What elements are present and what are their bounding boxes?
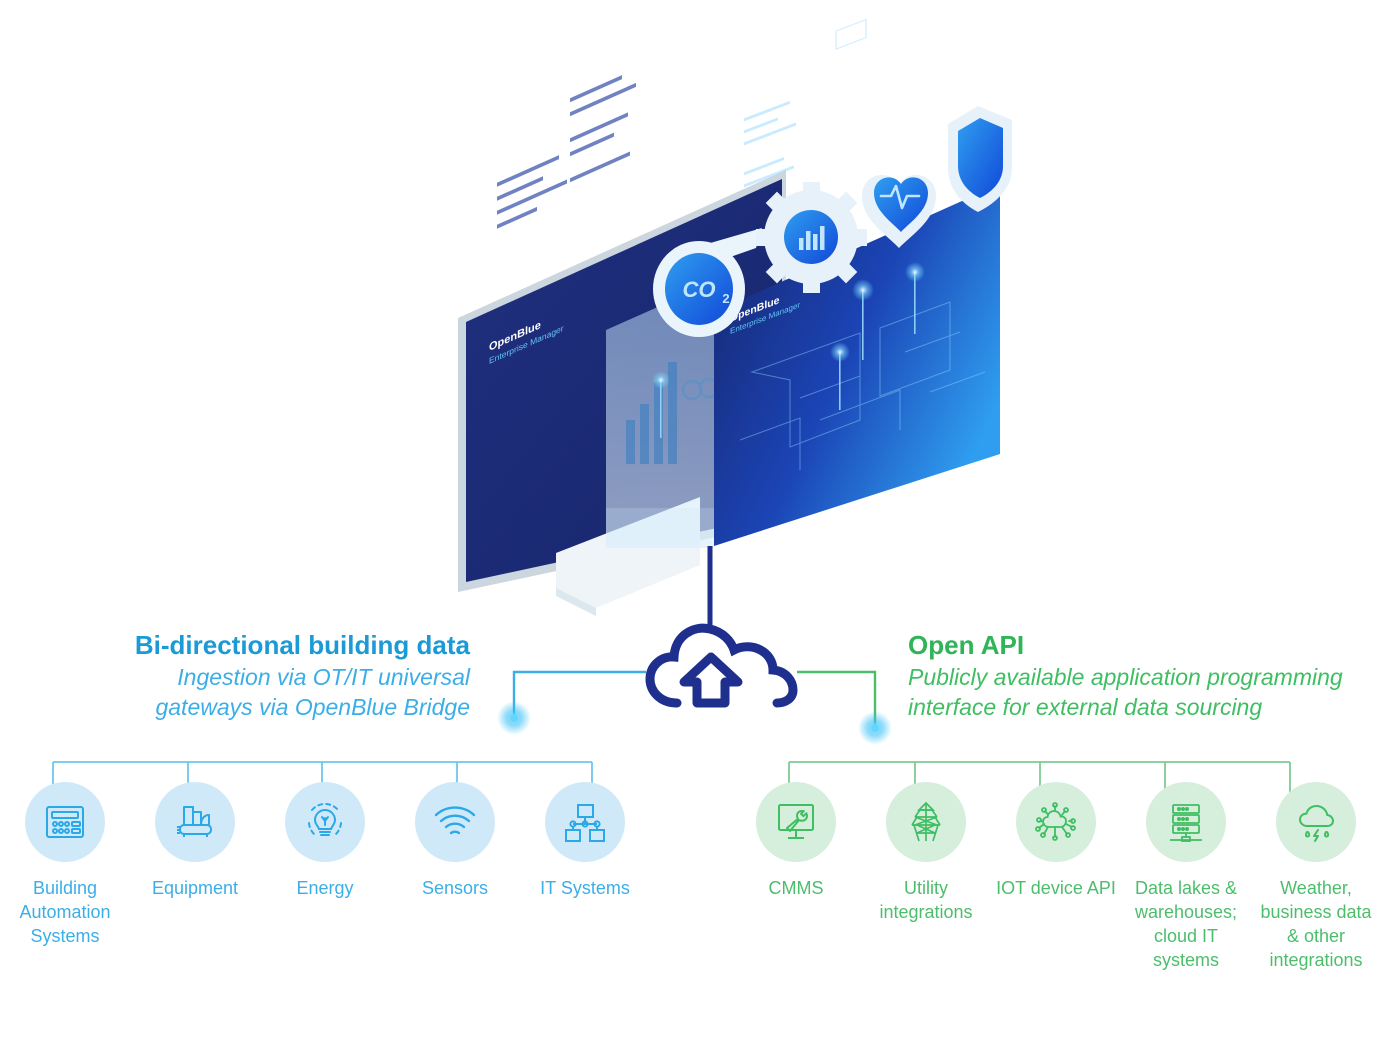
node-iot-device-api[interactable]: IOT device API — [991, 782, 1121, 972]
right-heading-title: Open API — [908, 628, 1380, 662]
node-label: Sensors — [393, 876, 517, 900]
screen-front-product: Enterprise Manager — [730, 300, 800, 336]
node-energy[interactable]: Energy — [260, 782, 390, 948]
left-source-list: Building Automation Systems Equipment — [0, 782, 650, 948]
right-connector — [797, 672, 892, 745]
node-cmms[interactable]: CMMS — [731, 782, 861, 972]
monitor-front: OpenBlue Enterprise Manager — [652, 0, 1000, 546]
shield-badge — [948, 106, 1012, 212]
left-heading-block: Bi-directional building data Ingestion v… — [40, 628, 470, 722]
screen-back-brand: OpenBlue — [489, 319, 541, 354]
glass-panel — [606, 282, 718, 548]
monitor-back: OpenBlue Enterprise Manager — [458, 0, 786, 616]
node-building-automation-systems[interactable]: Building Automation Systems — [0, 782, 130, 948]
wifi-signal-icon — [415, 782, 495, 862]
node-label: Weather, business data & other integrati… — [1254, 876, 1378, 972]
right-heading-block: Open API Publicly available application … — [908, 628, 1380, 722]
control-panel-icon — [25, 782, 105, 862]
node-label: IOT device API — [994, 876, 1118, 900]
co2-badge: CO 2 — [653, 228, 762, 337]
gear-analytics-badge — [756, 182, 867, 293]
machinery-icon — [155, 782, 235, 862]
left-heading-subtitle-line2: gateways via OpenBlue Bridge — [40, 692, 470, 722]
network-nodes-icon — [545, 782, 625, 862]
node-label: Data lakes & warehouses; cloud IT system… — [1124, 876, 1248, 972]
node-label: IT Systems — [523, 876, 647, 900]
node-label: Building Automation Systems — [3, 876, 127, 948]
right-heading-subtitle-line1: Publicly available application programmi… — [908, 662, 1380, 692]
node-weather-business-data[interactable]: Weather, business data & other integrati… — [1251, 782, 1380, 972]
data-sparks — [652, 262, 925, 438]
node-data-lakes[interactable]: Data lakes & warehouses; cloud IT system… — [1121, 782, 1251, 972]
lightbulb-icon — [285, 782, 365, 862]
iot-cloud-nodes-icon — [1016, 782, 1096, 862]
node-label: Utility integrations — [864, 876, 988, 924]
right-source-list: CMMS Utility integrations — [731, 782, 1380, 972]
left-heading-subtitle-line1: Ingestion via OT/IT universal — [40, 662, 470, 692]
heart-pulse-badge — [862, 175, 936, 248]
cloud-upload-icon — [650, 628, 793, 703]
diagram-canvas: OpenBlue Enterprise Manager — [0, 0, 1380, 1037]
monitor-wrench-icon — [756, 782, 836, 862]
node-equipment[interactable]: Equipment — [130, 782, 260, 948]
node-label: Energy — [263, 876, 387, 900]
left-heading-title: Bi-directional building data — [40, 628, 470, 662]
server-rack-icon — [1146, 782, 1226, 862]
node-label: Equipment — [133, 876, 257, 900]
node-utility-integrations[interactable]: Utility integrations — [861, 782, 991, 972]
co2-badge-label: CO — [683, 277, 716, 302]
screen-front-brand: OpenBlue — [730, 294, 780, 325]
node-sensors[interactable]: Sensors — [390, 782, 520, 948]
right-heading-subtitle-line2: interface for external data sourcing — [908, 692, 1380, 722]
power-pylon-icon — [886, 782, 966, 862]
co2-badge-subscript: 2 — [722, 291, 729, 306]
weather-cloud-icon — [1276, 782, 1356, 862]
node-it-systems[interactable]: IT Systems — [520, 782, 650, 948]
screen-back-product: Enterprise Manager — [489, 323, 564, 366]
left-connector — [497, 672, 646, 735]
node-label: CMMS — [734, 876, 858, 900]
